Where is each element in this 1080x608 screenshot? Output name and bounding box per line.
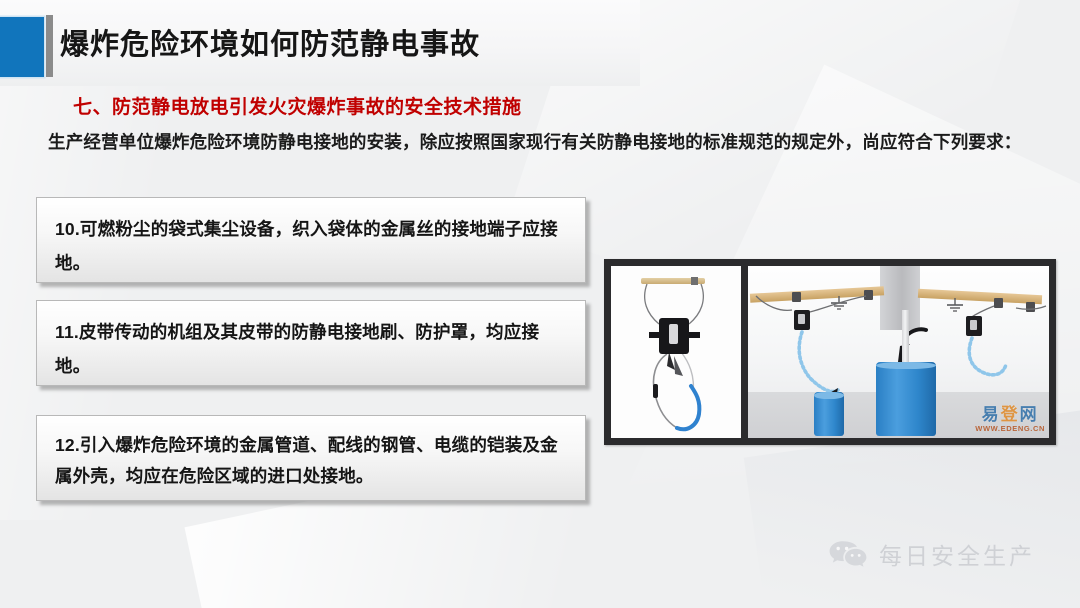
fill-pipe	[902, 310, 909, 368]
watermark-logo-text: 易登网	[975, 406, 1045, 423]
wechat-icon	[828, 539, 868, 569]
grounding-reel-unit	[794, 310, 810, 330]
illustration-inner: 易登网 WWW.EDENG.CN	[611, 266, 1049, 438]
illustration-pane-left	[611, 266, 741, 438]
page-title: 爆炸危险环境如何防范静电事故	[60, 16, 480, 74]
illustration-pane-right: 易登网 WWW.EDENG.CN	[748, 266, 1049, 438]
reel-indicator-face	[669, 324, 678, 344]
slide-canvas: 爆炸危险环境如何防范静电事故 七、防范静电放电引发火灾爆炸事故的安全技术措施 生…	[0, 0, 1080, 608]
requirement-text: 10.可燃粉尘的袋式集尘设备，织入袋体的金属丝的接地端子应接地。	[55, 212, 569, 280]
small-drum	[814, 392, 844, 436]
large-drum	[876, 362, 936, 436]
footer-brand: 每日安全生产	[828, 537, 1035, 571]
image-watermark: 易登网 WWW.EDENG.CN	[975, 406, 1045, 434]
requirement-text: 12.引入爆炸危险环境的金属管道、配线的钢管、电缆的铠装及金属外壳，均应在危险区…	[55, 430, 569, 492]
requirement-text: 11.皮带传动的机组及其皮带的防静电接地刷、防护罩，均应接地。	[55, 315, 569, 383]
illustration-frame: 易登网 WWW.EDENG.CN	[604, 259, 1056, 445]
watermark-url: WWW.EDENG.CN	[975, 424, 1045, 434]
slide-header: 爆炸危险环境如何防范静电事故	[0, 0, 1080, 86]
brand-name: 每日安全生产	[879, 537, 1035, 571]
grounding-reel-unit	[966, 316, 982, 336]
accent-divider-bar	[46, 15, 53, 77]
drum-rim	[876, 362, 936, 369]
reel-arm-right	[688, 332, 700, 338]
intro-paragraph: 生产经营单位爆炸危险环境防静电接地的安装，除应按照国家现行有关防静电接地的标准规…	[48, 127, 1064, 158]
section-heading: 七、防范静电放电引发火灾爆炸事故的安全技术措施	[73, 92, 522, 119]
accent-square	[0, 17, 44, 77]
drum-rim	[814, 392, 844, 399]
requirement-box-10: 10.可燃粉尘的袋式集尘设备，织入袋体的金属丝的接地端子应接地。	[36, 197, 586, 283]
requirement-box-11: 11.皮带传动的机组及其皮带的防静电接地刷、防护罩，均应接地。	[36, 300, 586, 386]
requirement-box-12: 12.引入爆炸危险环境的金属管道、配线的钢管、电缆的铠装及金属外壳，均应在危险区…	[36, 415, 586, 501]
reel-arm-left	[649, 332, 661, 338]
